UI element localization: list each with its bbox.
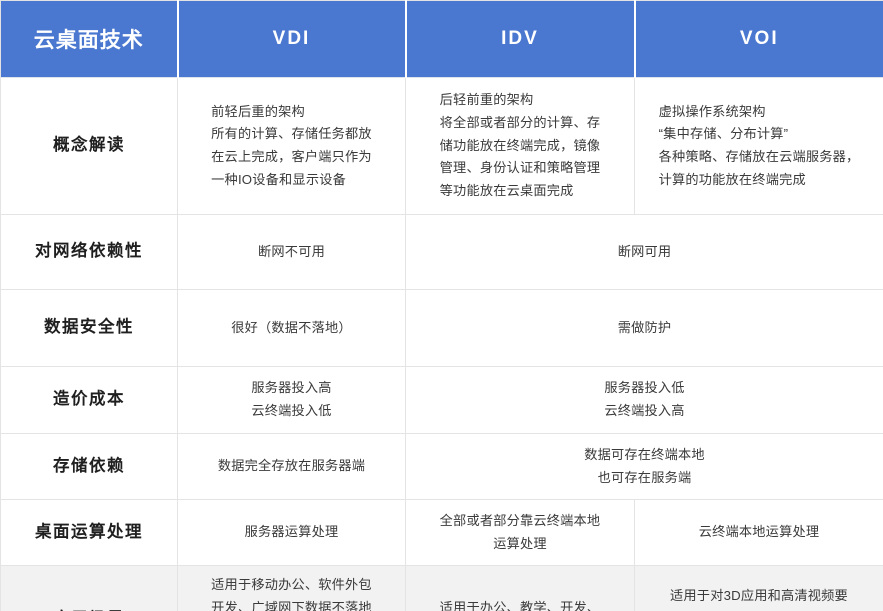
cell-concept-vdi: 前轻后重的架构 所有的计算、存储任务都放 在云上完成，客户端只作为 一种IO设备… xyxy=(178,78,406,215)
cell-line: 一种IO设备和显示设备 xyxy=(211,169,372,192)
cell-line: 各种策略、存储放在云端服务器， xyxy=(659,146,860,169)
cell-security-vdi: 很好（数据不落地） xyxy=(178,290,406,367)
header-cell-vdi: VDI xyxy=(178,1,406,78)
cell-compute-idv: 全部或者部分靠云终端本地 运算处理 xyxy=(406,500,635,566)
cell-storage-idv-voi-merged: 数据可存在终端本地 也可存在服务端 xyxy=(406,434,883,500)
row-label-application-scenario: 应用场景 xyxy=(1,566,178,611)
row-label-data-security: 数据安全性 xyxy=(1,290,178,367)
table-row: 数据安全性 很好（数据不落地） 需做防护 xyxy=(1,290,883,367)
cell-network-vdi: 断网不可用 xyxy=(178,215,406,290)
cell-line: 服务器投入高 xyxy=(188,377,395,400)
cell-security-idv-voi-merged: 需做防护 xyxy=(406,290,883,367)
cell-cost-idv-voi-merged: 服务器投入低 云终端投入高 xyxy=(406,367,883,434)
cell-line: 将全部或者部分的计算、存 xyxy=(440,112,601,135)
table-body: 概念解读 前轻后重的架构 所有的计算、存储任务都放 在云上完成，客户端只作为 一… xyxy=(1,78,883,611)
comparison-table-container: 云桌面技术 VDI IDV VOI 概念解读 前轻后重的架构 所有的计算、存储任… xyxy=(0,0,883,611)
cell-line: 在云上完成，客户端只作为 xyxy=(211,146,372,169)
cell-text-lines: 虚拟操作系统架构 “集中存储、分布计算” 各种策略、存储放在云端服务器， 计算的… xyxy=(659,101,860,192)
cell-line: 后轻前重的架构 xyxy=(440,89,601,112)
header-cell-voi: VOI xyxy=(635,1,883,78)
table-row: 造价成本 服务器投入高 云终端投入低 服务器投入低 云终端投入高 xyxy=(1,367,883,434)
header-cell-technology: 云桌面技术 xyxy=(1,1,178,78)
cell-line: 也可存在服务端 xyxy=(416,467,873,490)
cell-line: 运算处理 xyxy=(416,533,624,556)
cell-line: 适用于移动办公、软件外包 xyxy=(188,574,395,597)
cell-compute-vdi: 服务器运算处理 xyxy=(178,500,406,566)
cell-line: 云终端投入低 xyxy=(188,400,395,423)
cell-compute-voi: 云终端本地运算处理 xyxy=(635,500,883,566)
table-row: 应用场景 适用于移动办公、软件外包 开发、广域网下数据不落地 等无3D高清、无复… xyxy=(1,566,883,611)
row-label-storage-dependency: 存储依赖 xyxy=(1,434,178,500)
cell-line: 前轻后重的架构 xyxy=(211,101,372,124)
cell-line: 适用于对3D应用和高清视频要 xyxy=(645,585,873,608)
cell-line: 服务器投入低 xyxy=(416,377,873,400)
cell-line: 所有的计算、存储任务都放 xyxy=(211,123,372,146)
cell-cost-vdi: 服务器投入高 云终端投入低 xyxy=(178,367,406,434)
table-row: 存储依赖 数据完全存放在服务器端 数据可存在终端本地 也可存在服务端 xyxy=(1,434,883,500)
cloud-desktop-comparison-table: 云桌面技术 VDI IDV VOI 概念解读 前轻后重的架构 所有的计算、存储任… xyxy=(0,0,883,611)
row-label-network-dependency: 对网络依赖性 xyxy=(1,215,178,290)
table-row: 桌面运算处理 服务器运算处理 全部或者部分靠云终端本地 运算处理 云终端本地运算… xyxy=(1,500,883,566)
cell-line: “集中存储、分布计算” xyxy=(659,123,860,146)
cell-scenario-idv: 适用于办公、教学、开发、 小型3D等较复杂的场景 xyxy=(406,566,635,611)
table-header: 云桌面技术 VDI IDV VOI xyxy=(1,1,883,78)
cell-line: 适用于办公、教学、开发、 xyxy=(416,597,624,611)
cell-concept-idv: 后轻前重的架构 将全部或者部分的计算、存 储功能放在终端完成，镜像 管理、身份认… xyxy=(406,78,635,215)
cell-line: 储功能放在终端完成，镜像 xyxy=(440,135,601,158)
header-cell-idv: IDV xyxy=(406,1,635,78)
row-label-desktop-compute: 桌面运算处理 xyxy=(1,500,178,566)
table-row: 对网络依赖性 断网不可用 断网可用 xyxy=(1,215,883,290)
table-header-row: 云桌面技术 VDI IDV VOI xyxy=(1,1,883,78)
cell-line: 虚拟操作系统架构 xyxy=(659,101,860,124)
cell-network-idv-voi-merged: 断网可用 xyxy=(406,215,883,290)
cell-scenario-vdi: 适用于移动办公、软件外包 开发、广域网下数据不落地 等无3D高清、无复杂外设、 … xyxy=(178,566,406,611)
table-row: 概念解读 前轻后重的架构 所有的计算、存储任务都放 在云上完成，客户端只作为 一… xyxy=(1,78,883,215)
cell-text-lines: 后轻前重的架构 将全部或者部分的计算、存 储功能放在终端完成，镜像 管理、身份认… xyxy=(440,89,601,203)
cell-concept-voi: 虚拟操作系统架构 “集中存储、分布计算” 各种策略、存储放在云端服务器， 计算的… xyxy=(635,78,883,215)
row-label-concept: 概念解读 xyxy=(1,78,178,215)
cell-line: 计算的功能放在终端完成 xyxy=(659,169,860,192)
cell-storage-vdi: 数据完全存放在服务器端 xyxy=(178,434,406,500)
row-label-cost: 造价成本 xyxy=(1,367,178,434)
cell-scenario-voi: 适用于对3D应用和高清视频要 求高且外设复杂、网络较差的场 景 xyxy=(635,566,883,611)
cell-text-lines: 前轻后重的架构 所有的计算、存储任务都放 在云上完成，客户端只作为 一种IO设备… xyxy=(211,101,372,192)
cell-line: 开发、广域网下数据不落地 xyxy=(188,597,395,611)
cell-line: 云终端投入高 xyxy=(416,400,873,423)
cell-line: 等功能放在云桌面完成 xyxy=(440,180,601,203)
cell-line: 数据可存在终端本地 xyxy=(416,444,873,467)
cell-line: 全部或者部分靠云终端本地 xyxy=(416,510,624,533)
cell-line: 管理、身份认证和策略管理 xyxy=(440,157,601,180)
